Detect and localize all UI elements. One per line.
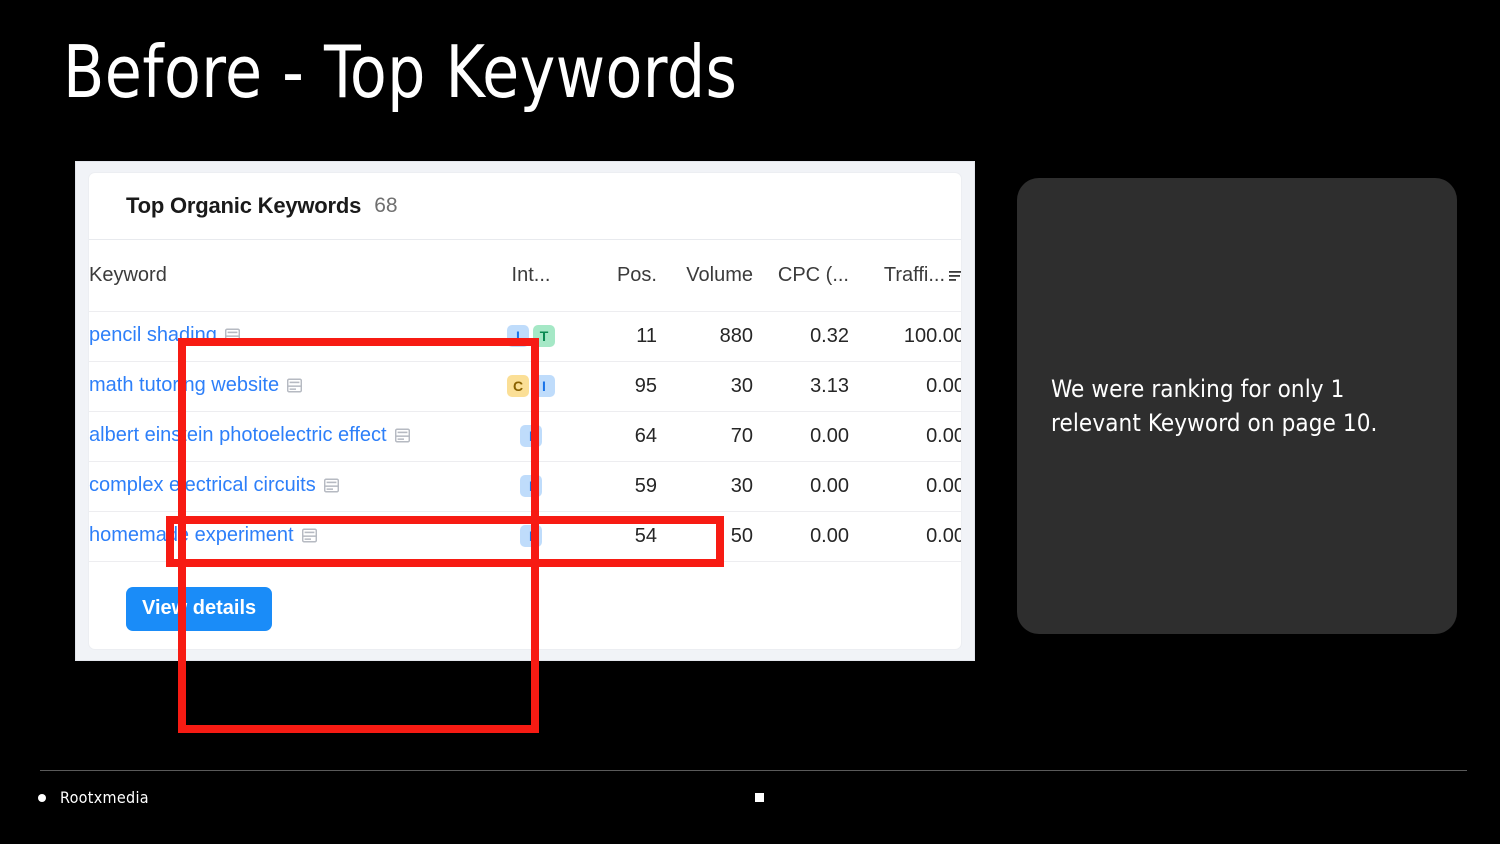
view-details-button[interactable]: View details [126,587,272,631]
position-cell: 11 [575,311,657,361]
column-header-volume[interactable]: Volume [657,240,753,311]
keyword-link[interactable]: albert einstein photoelectric effect [89,425,387,447]
intent-badge-informational[interactable]: I [520,475,542,497]
table-row[interactable]: albert einstein photoelectric effectI647… [89,411,962,461]
column-header-intent[interactable]: Int... [487,240,575,311]
intent-cell: CI [487,361,575,411]
volume-cell: 30 [657,361,753,411]
traffic-cell: 0.00 [849,511,962,561]
intent-cell: I [487,511,575,561]
position-cell: 64 [575,411,657,461]
serp-preview-icon[interactable] [287,376,302,391]
keyword-link[interactable]: math tutoring website [89,375,279,397]
intent-badge-informational[interactable]: I [520,425,542,447]
cpc-cell: 0.00 [753,511,849,561]
note-panel: We were ranking for only 1 relevant Keyw… [1017,178,1457,634]
volume-cell: 50 [657,511,753,561]
intent-badge-informational[interactable]: I [533,375,555,397]
keywords-table: Keyword Int... Pos. Volume CPC (... Traf… [89,240,962,562]
column-header-traffic-label: Traffi... [884,264,945,286]
cpc-cell: 0.32 [753,311,849,361]
screenshot-card: Top Organic Keywords 68 Keyword Int... P… [75,161,975,661]
table-row[interactable]: homemade experimentI54500.000.00 [89,511,962,561]
keyword-link[interactable]: pencil shading [89,325,217,347]
cpc-cell: 3.13 [753,361,849,411]
position-cell: 95 [575,361,657,411]
keyword-count: 68 [374,194,397,218]
note-text: We were ranking for only 1 relevant Keyw… [1017,372,1457,440]
footer-divider [40,770,1467,771]
footer-brand-group: Rootxmedia [38,788,149,807]
intent-badge-transactional[interactable]: T [533,325,555,347]
page-title: Before - Top Keywords [63,26,737,118]
table-row[interactable]: math tutoring websiteCI95303.130.00 [89,361,962,411]
panel-header: Top Organic Keywords 68 [89,173,961,240]
bullet-dot-icon [38,794,46,802]
serp-preview-icon[interactable] [225,326,240,341]
intent-badge-informational[interactable]: I [507,325,529,347]
footer-brand-label: Rootxmedia [60,788,149,807]
volume-cell: 70 [657,411,753,461]
table-header-row: Keyword Int... Pos. Volume CPC (... Traf… [89,240,962,311]
keyword-cell: albert einstein photoelectric effect [89,411,487,461]
keyword-link[interactable]: homemade experiment [89,525,294,547]
intent-cell: I [487,461,575,511]
table-row[interactable]: pencil shadingIT118800.32100.00 [89,311,962,361]
traffic-cell: 0.00 [849,411,962,461]
column-header-position[interactable]: Pos. [575,240,657,311]
cpc-cell: 0.00 [753,461,849,511]
keyword-cell: math tutoring website [89,361,487,411]
serp-preview-icon[interactable] [324,476,339,491]
traffic-cell: 100.00 [849,311,962,361]
keywords-panel: Top Organic Keywords 68 Keyword Int... P… [88,172,962,650]
intent-badge-informational[interactable]: I [520,525,542,547]
intent-cell: IT [487,311,575,361]
keyword-cell: complex electrical circuits [89,461,487,511]
traffic-cell: 0.00 [849,361,962,411]
keyword-cell: pencil shading [89,311,487,361]
traffic-cell: 0.00 [849,461,962,511]
table-body: pencil shadingIT118800.32100.00math tuto… [89,311,962,561]
column-header-traffic[interactable]: Traffi... [849,240,962,311]
panel-title: Top Organic Keywords [126,193,361,219]
volume-cell: 30 [657,461,753,511]
position-cell: 59 [575,461,657,511]
column-header-keyword[interactable]: Keyword [89,240,487,311]
position-cell: 54 [575,511,657,561]
square-marker-icon [755,793,764,802]
panel-footer: View details [89,562,961,631]
keyword-link[interactable]: complex electrical circuits [89,475,316,497]
intent-cell: I [487,411,575,461]
intent-badge-commercial[interactable]: C [507,375,529,397]
sort-descending-icon[interactable] [949,265,962,277]
serp-preview-icon[interactable] [302,526,317,541]
volume-cell: 880 [657,311,753,361]
column-header-cpc[interactable]: CPC (... [753,240,849,311]
cpc-cell: 0.00 [753,411,849,461]
serp-preview-icon[interactable] [395,426,410,441]
table-row[interactable]: complex electrical circuitsI59300.000.00 [89,461,962,511]
keyword-cell: homemade experiment [89,511,487,561]
